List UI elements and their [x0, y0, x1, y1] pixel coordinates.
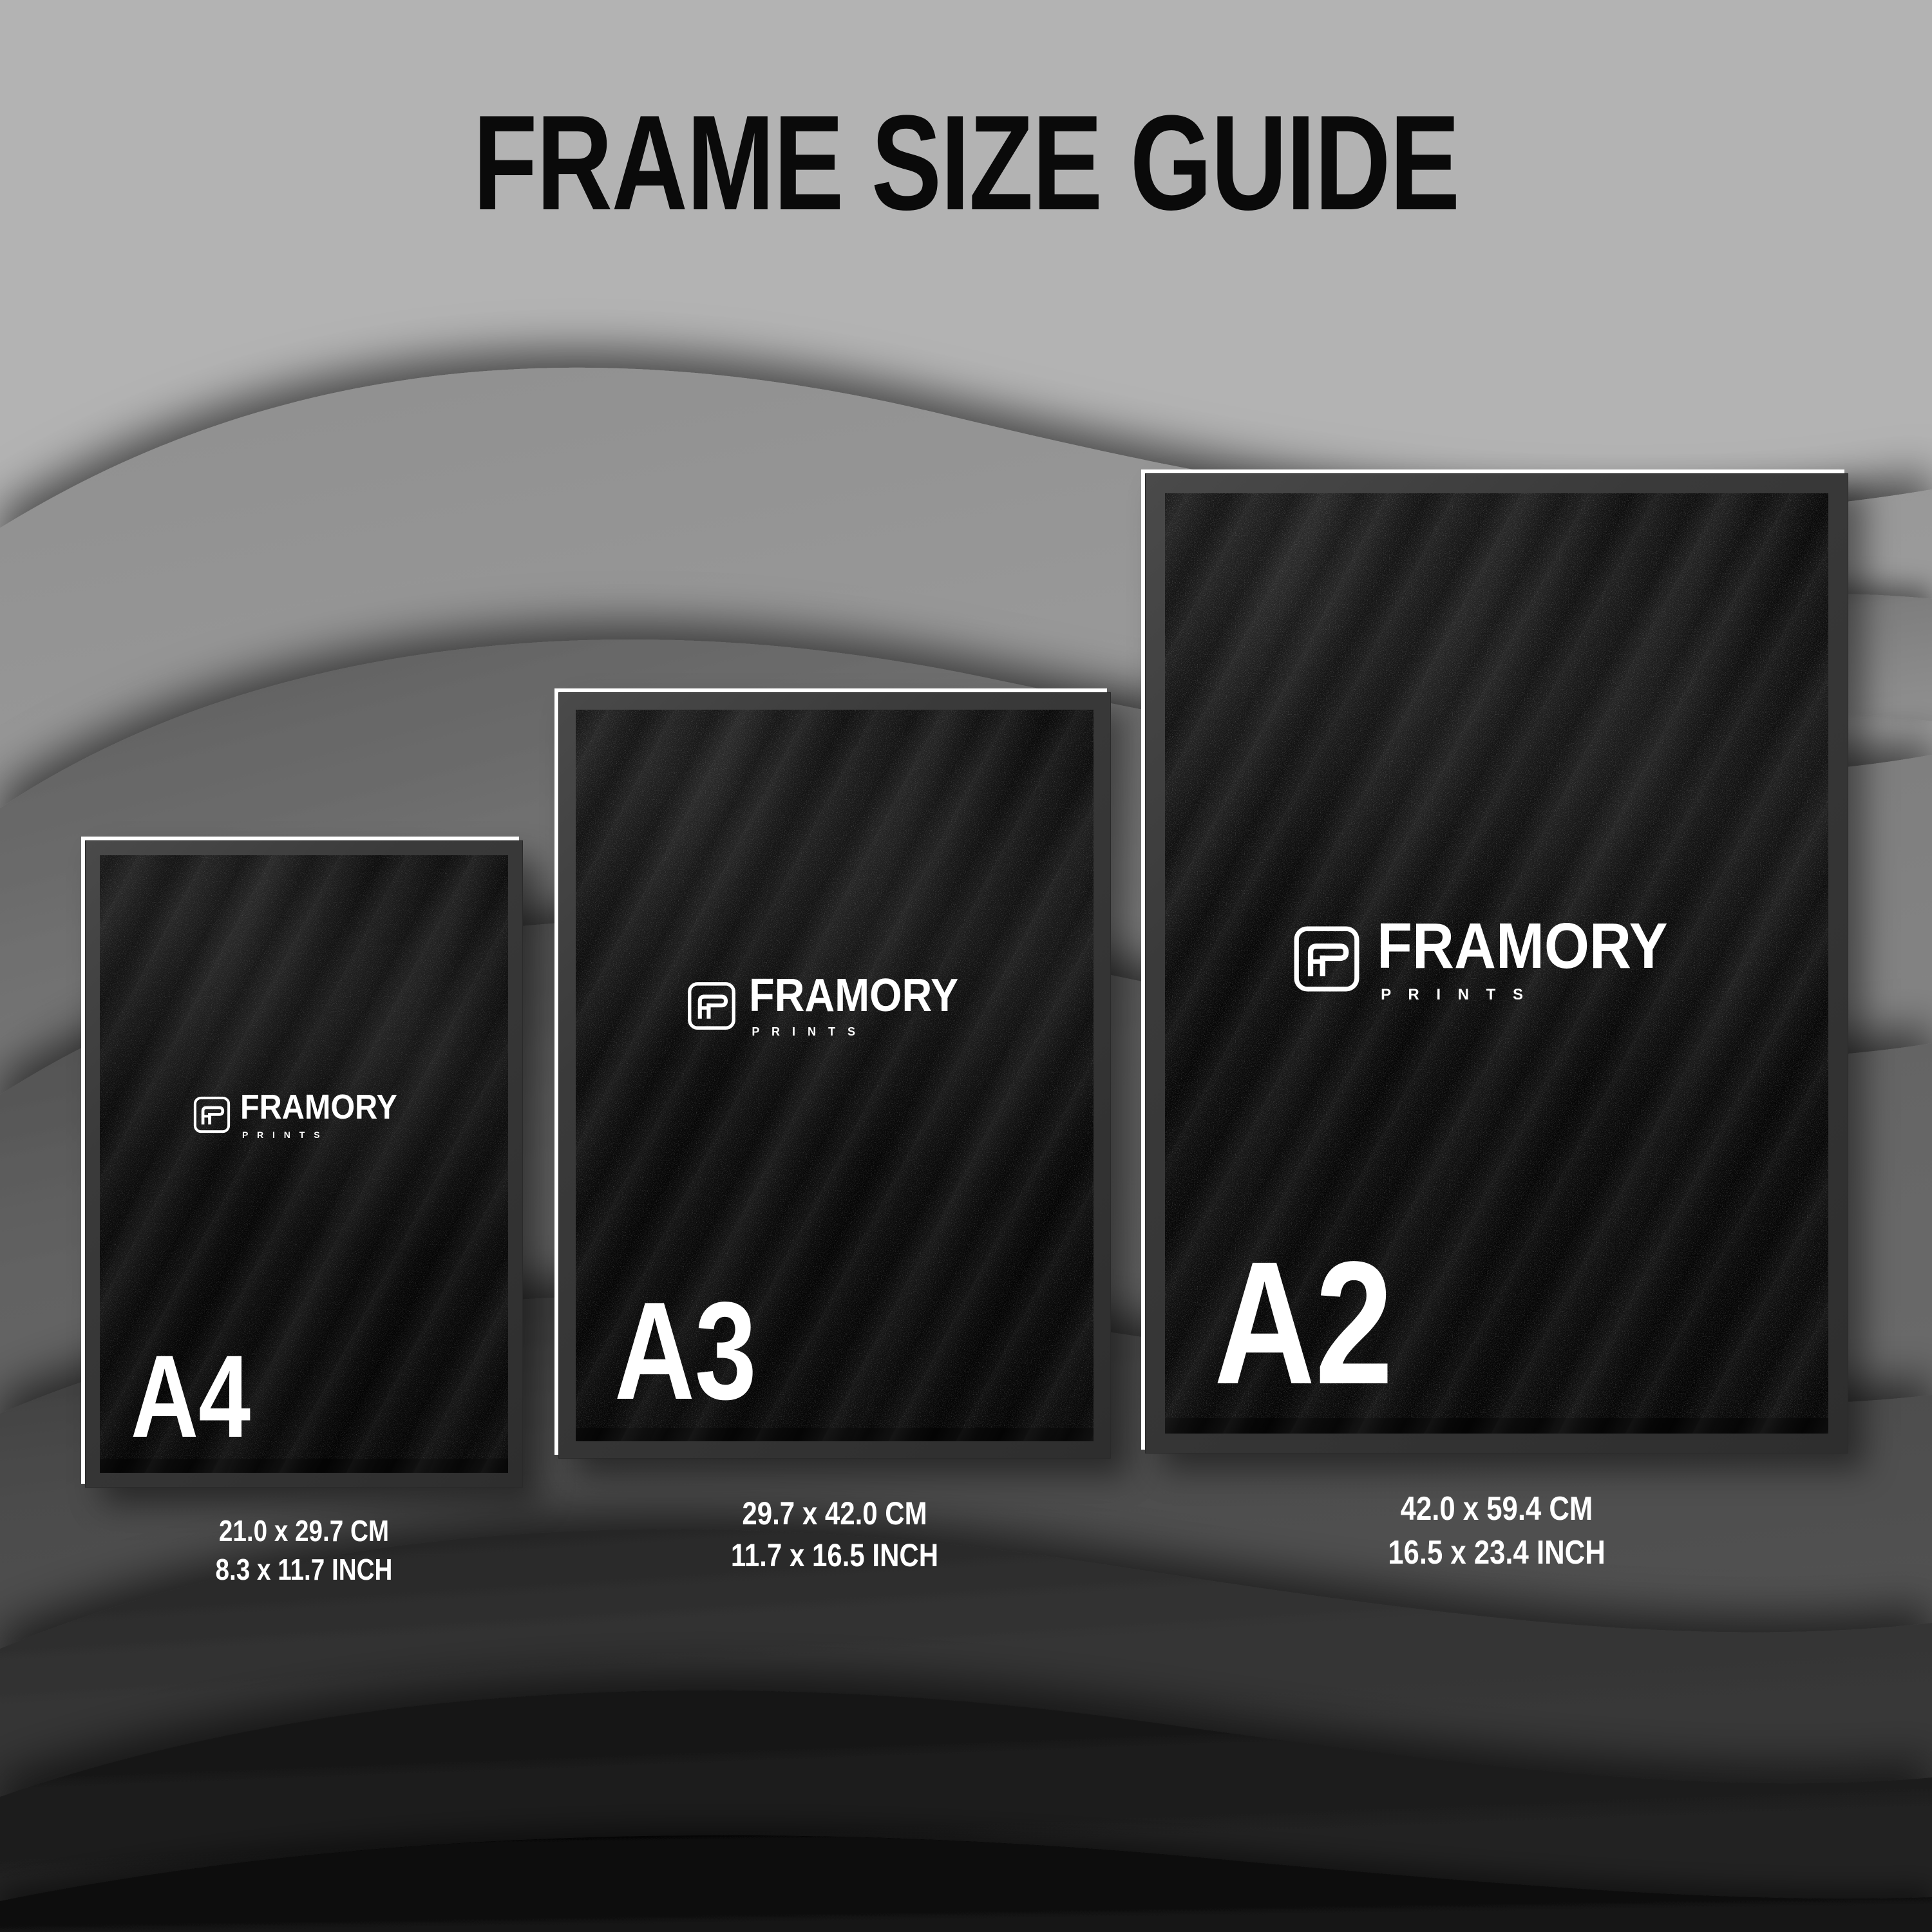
brand-name-a2: FRAMORY: [1377, 915, 1668, 977]
artwork-a2: FRAMORY P R I N T S A2: [1165, 493, 1828, 1434]
logo-a4: FRAMORY P R I N T S: [100, 1091, 508, 1139]
caption-a3: 29.7 x 42.0 CM 11.7 x 16.5 INCH: [558, 1493, 1111, 1577]
logo-a2: FRAMORY P R I N T S: [1165, 915, 1828, 1003]
size-label-a3: A3: [614, 1294, 757, 1408]
logo-text-a2: FRAMORY P R I N T S: [1377, 915, 1700, 1003]
caption-a4-inch: 8.3 x 11.7 INCH: [120, 1551, 488, 1589]
brand-name-a3: FRAMORY: [749, 974, 958, 1018]
frame-a4[interactable]: FRAMORY P R I N T S A4: [85, 840, 523, 1488]
fp-monogram-icon: [193, 1096, 231, 1133]
caption-a2-inch: 16.5 x 23.4 INCH: [1201, 1531, 1792, 1575]
logo-text-a3: FRAMORY P R I N T S: [749, 974, 981, 1037]
caption-a3-inch: 11.7 x 16.5 INCH: [603, 1535, 1067, 1577]
page-title: FRAME SIZE GUIDE: [213, 95, 1719, 231]
caption-a2-cm: 42.0 x 59.4 CM: [1201, 1488, 1792, 1531]
brand-tagline-a3: P R I N T S: [752, 1026, 981, 1037]
logo-a3: FRAMORY P R I N T S: [576, 974, 1094, 1037]
size-label-a2: A2: [1214, 1251, 1393, 1395]
size-label-a4: A4: [131, 1349, 251, 1444]
caption-a4-cm: 21.0 x 29.7 CM: [120, 1512, 488, 1551]
artwork-a4: FRAMORY P R I N T S A4: [100, 855, 508, 1473]
caption-a2: 42.0 x 59.4 CM 16.5 x 23.4 INCH: [1145, 1488, 1848, 1575]
brand-tagline-a2: P R I N T S: [1381, 987, 1700, 1003]
brand-name-a4: FRAMORY: [240, 1091, 397, 1124]
artwork-a3: FRAMORY P R I N T S A3: [576, 710, 1094, 1441]
logo-text-a4: FRAMORY P R I N T S: [240, 1091, 415, 1139]
frame-a2[interactable]: FRAMORY P R I N T S A2: [1145, 473, 1848, 1454]
frame-a3[interactable]: FRAMORY P R I N T S A3: [558, 692, 1111, 1459]
caption-a3-cm: 29.7 x 42.0 CM: [603, 1493, 1067, 1535]
brand-tagline-a4: P R I N T S: [242, 1130, 415, 1139]
fp-monogram-icon: [1293, 925, 1360, 992]
caption-a4: 21.0 x 29.7 CM 8.3 x 11.7 INCH: [85, 1512, 523, 1589]
fp-monogram-icon: [687, 981, 736, 1030]
